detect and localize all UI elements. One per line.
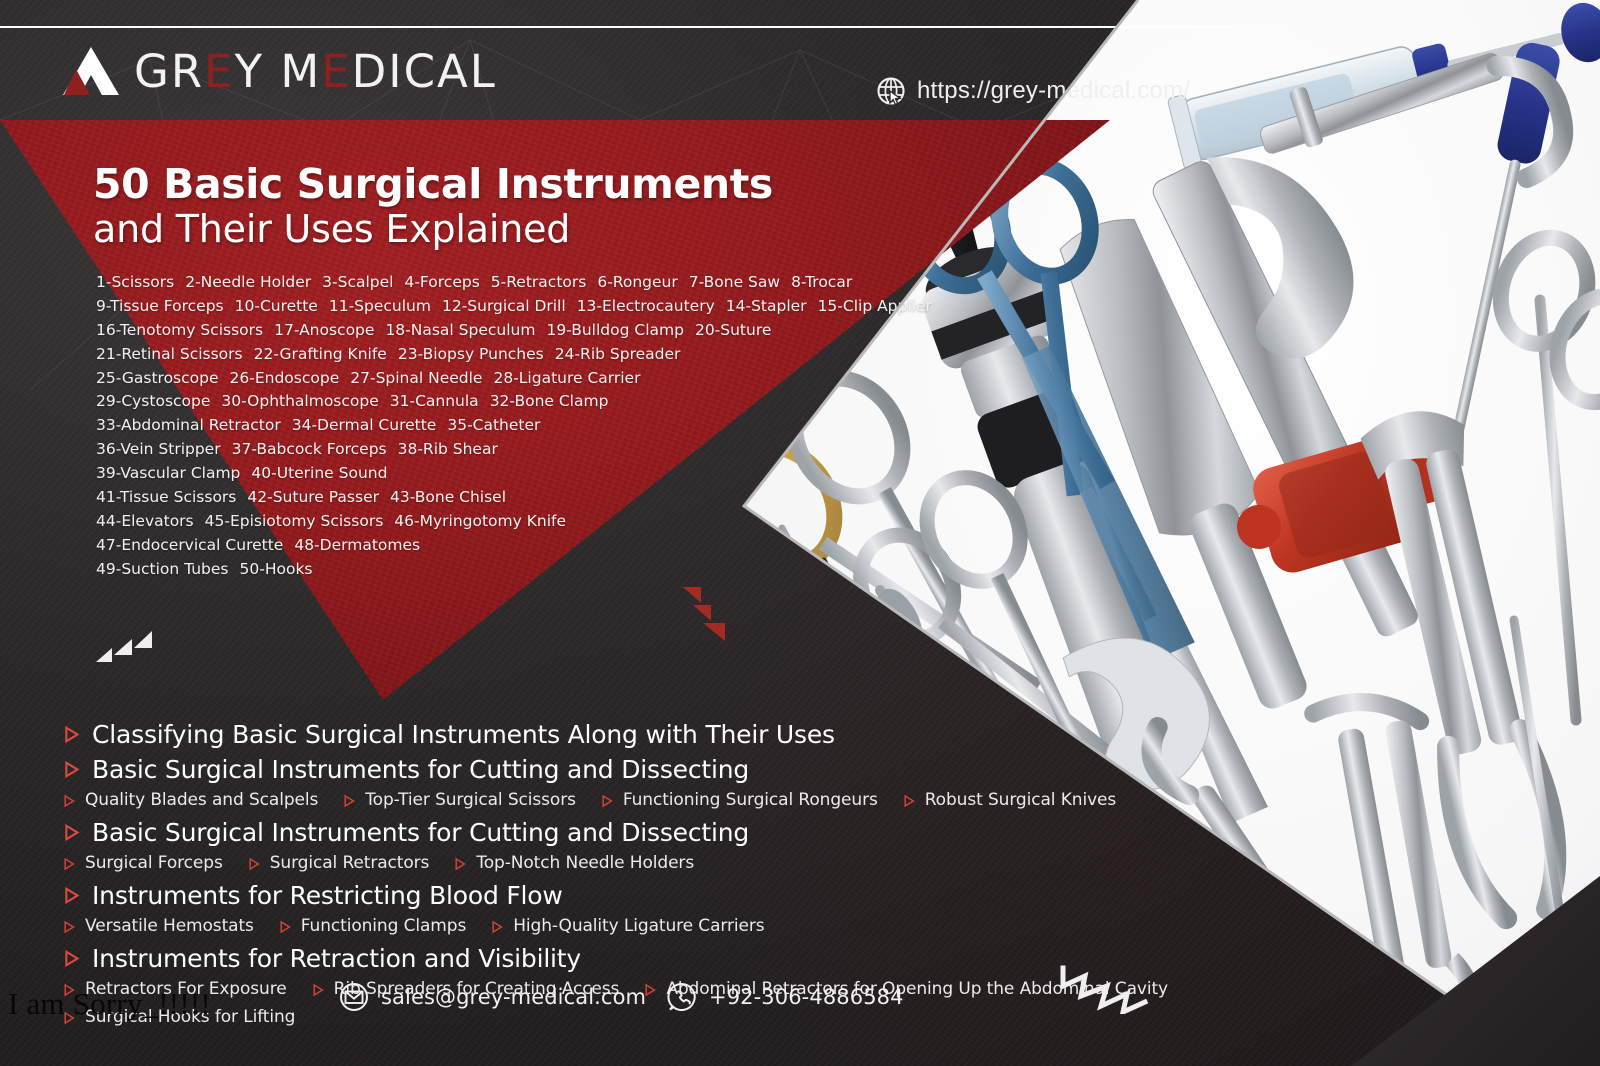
footer-email-text: sales@grey-medical.com bbox=[381, 985, 646, 1009]
outline-subitem[interactable]: Robust Surgical Knives bbox=[902, 792, 1116, 809]
triangle-bullet-icon bbox=[62, 823, 81, 842]
instrument-item: 5-Retractors bbox=[491, 273, 587, 291]
logo-text-seg3: DICAL bbox=[352, 49, 497, 94]
instrument-item: 24-Rib Spreader bbox=[555, 345, 681, 363]
page-title: 50 Basic Surgical Instruments and Their … bbox=[93, 162, 853, 252]
instrument-item: 49-Suction Tubes bbox=[96, 560, 229, 578]
triangle-bullet-icon bbox=[453, 857, 467, 871]
logo-text-seg2: Y M bbox=[235, 49, 322, 94]
outline-row: Instruments for Retraction and Visibilit… bbox=[62, 946, 1122, 971]
brand-logo[interactable]: GREY MEDICAL bbox=[60, 40, 497, 102]
instrument-row: 47-Endocervical Curette48-Dermatomes bbox=[96, 538, 876, 554]
instrument-item: 17-Anoscope bbox=[274, 321, 374, 339]
triangle-bullet-icon bbox=[600, 794, 614, 808]
instrument-item: 4-Forceps bbox=[404, 273, 479, 291]
instrument-number-list: 1-Scissors2-Needle Holder3-Scalpel4-Forc… bbox=[96, 275, 876, 586]
instrument-item: 6-Rongeur bbox=[597, 273, 677, 291]
instrument-item: 46-Myringotomy Knife bbox=[394, 512, 566, 530]
instrument-item: 27-Spinal Needle bbox=[350, 369, 482, 387]
outline-label: Robust Surgical Knives bbox=[925, 792, 1116, 809]
instrument-item: 9-Tissue Forceps bbox=[96, 297, 224, 315]
instrument-row: 36-Vein Stripper37-Babcock Forceps38-Rib… bbox=[96, 442, 876, 458]
triangle-bullet-icon bbox=[62, 857, 76, 871]
footer-phone[interactable]: +92-306-4886584 bbox=[667, 982, 904, 1012]
instrument-item: 44-Elevators bbox=[96, 512, 194, 530]
outline-row: Surgical ForcepsSurgical RetractorsTop-N… bbox=[62, 855, 1122, 872]
outline-label: Basic Surgical Instruments for Cutting a… bbox=[92, 757, 749, 782]
triangle-bullet-icon bbox=[247, 857, 261, 871]
website-url-text: https://grey-medical.com/ bbox=[917, 77, 1190, 105]
outline-label: Versatile Hemostats bbox=[85, 918, 254, 935]
title-line-1: 50 Basic Surgical Instruments bbox=[93, 162, 853, 206]
outline-subitem[interactable]: High-Quality Ligature Carriers bbox=[490, 918, 764, 935]
instrument-row: 29-Cystoscope30-Ophthalmoscope31-Cannula… bbox=[96, 394, 876, 410]
instrument-row: 21-Retinal Scissors22-Grafting Knife23-B… bbox=[96, 347, 876, 363]
instrument-item: 29-Cystoscope bbox=[96, 392, 210, 410]
outline-label: Functioning Clamps bbox=[301, 918, 466, 935]
instrument-row: 41-Tissue Scissors42-Suture Passer43-Bon… bbox=[96, 490, 876, 506]
logo-text-red2: E bbox=[321, 49, 351, 94]
instrument-item: 30-Ophthalmoscope bbox=[221, 392, 378, 410]
outline-label: Functioning Surgical Rongeurs bbox=[623, 792, 878, 809]
instrument-item: 48-Dermatomes bbox=[294, 536, 420, 554]
instrument-item: 19-Bulldog Clamp bbox=[546, 321, 684, 339]
instrument-row: 49-Suction Tubes50-Hooks bbox=[96, 562, 876, 578]
overlay-sorry-text: I am Sorry_!!!!! bbox=[8, 988, 211, 1019]
instrument-item: 18-Nasal Speculum bbox=[385, 321, 535, 339]
instrument-item: 12-Surgical Drill bbox=[442, 297, 566, 315]
triangle-bullet-icon bbox=[62, 886, 81, 905]
globe-cursor-icon bbox=[876, 76, 906, 106]
instrument-item: 40-Uterine Sound bbox=[251, 464, 387, 482]
outline-heading[interactable]: Classifying Basic Surgical Instruments A… bbox=[62, 722, 835, 747]
outline-label: High-Quality Ligature Carriers bbox=[513, 918, 764, 935]
outline-heading[interactable]: Instruments for Restricting Blood Flow bbox=[62, 883, 563, 908]
instrument-row: 1-Scissors2-Needle Holder3-Scalpel4-Forc… bbox=[96, 275, 876, 291]
ascending-white-triangles-icon bbox=[96, 628, 152, 664]
instrument-row: 33-Abdominal Retractor34-Dermal Curette3… bbox=[96, 418, 876, 434]
outline-subitem[interactable]: Surgical Forceps bbox=[62, 855, 223, 872]
instrument-item: 32-Bone Clamp bbox=[490, 392, 609, 410]
instrument-item: 2-Needle Holder bbox=[185, 273, 311, 291]
outline-subitem[interactable]: Top-Tier Surgical Scissors bbox=[342, 792, 576, 809]
outline-heading[interactable]: Basic Surgical Instruments for Cutting a… bbox=[62, 820, 749, 845]
footer-phone-text: +92-306-4886584 bbox=[709, 985, 904, 1009]
logo-text-red1: E bbox=[204, 49, 234, 94]
outline-row: Classifying Basic Surgical Instruments A… bbox=[62, 722, 1122, 747]
instrument-row: 16-Tenotomy Scissors17-Anoscope18-Nasal … bbox=[96, 323, 876, 339]
website-url[interactable]: https://grey-medical.com/ bbox=[876, 76, 1190, 106]
instrument-row: 44-Elevators45-Episiotomy Scissors46-Myr… bbox=[96, 514, 876, 530]
triangle-bullet-icon bbox=[342, 794, 356, 808]
outline-label: Surgical Forceps bbox=[85, 855, 223, 872]
descending-red-triangles-icon bbox=[683, 583, 731, 645]
title-line-2: and Their Uses Explained bbox=[93, 208, 853, 252]
outline-subitem[interactable]: Functioning Surgical Rongeurs bbox=[600, 792, 878, 809]
triangle-bullet-icon bbox=[278, 920, 292, 934]
instrument-item: 16-Tenotomy Scissors bbox=[96, 321, 263, 339]
instrument-item: 38-Rib Shear bbox=[398, 440, 498, 458]
outline-heading[interactable]: Instruments for Retraction and Visibilit… bbox=[62, 946, 581, 971]
outline-row: Quality Blades and ScalpelsTop-Tier Surg… bbox=[62, 792, 1122, 809]
triangle-bullet-icon bbox=[62, 920, 76, 934]
instrument-item: 15-Clip Applier bbox=[818, 297, 932, 315]
instrument-item: 34-Dermal Curette bbox=[292, 416, 437, 434]
instrument-item: 50-Hooks bbox=[240, 560, 313, 578]
outline-label: Top-Tier Surgical Scissors bbox=[365, 792, 576, 809]
instrument-item: 26-Endoscope bbox=[230, 369, 340, 387]
instrument-item: 25-Gastroscope bbox=[96, 369, 219, 387]
outline-label: Basic Surgical Instruments for Cutting a… bbox=[92, 820, 749, 845]
instrument-item: 42-Suture Passer bbox=[247, 488, 379, 506]
instrument-row: 39-Vascular Clamp40-Uterine Sound bbox=[96, 466, 876, 482]
triangle-bullet-icon bbox=[62, 794, 76, 808]
instrument-item: 31-Cannula bbox=[390, 392, 479, 410]
outline-label: Quality Blades and Scalpels bbox=[85, 792, 318, 809]
outline-subitem[interactable]: Surgical Retractors bbox=[247, 855, 430, 872]
triangle-bullet-icon bbox=[490, 920, 504, 934]
outline-subitem[interactable]: Quality Blades and Scalpels bbox=[62, 792, 318, 809]
instrument-row: 25-Gastroscope26-Endoscope27-Spinal Need… bbox=[96, 371, 876, 387]
instrument-item: 35-Catheter bbox=[447, 416, 540, 434]
envelope-circle-icon bbox=[339, 982, 369, 1012]
whatsapp-phone-circle-icon bbox=[667, 982, 697, 1012]
outline-label: Top-Notch Needle Holders bbox=[476, 855, 694, 872]
outline-label: Classifying Basic Surgical Instruments A… bbox=[92, 722, 835, 747]
instrument-item: 22-Grafting Knife bbox=[254, 345, 387, 363]
outline-row: Basic Surgical Instruments for Cutting a… bbox=[62, 757, 1122, 782]
outline-subitem[interactable]: Functioning Clamps bbox=[278, 918, 466, 935]
triangle-chevron-logo-icon bbox=[60, 45, 122, 97]
instrument-item: 37-Babcock Forceps bbox=[232, 440, 387, 458]
header-top-rule bbox=[0, 26, 1285, 28]
instrument-item: 33-Abdominal Retractor bbox=[96, 416, 281, 434]
triangle-bullet-icon bbox=[62, 725, 81, 744]
poster-root: GREY MEDICAL https://grey-medical.com/ 5… bbox=[0, 0, 1600, 1066]
logo-text-seg1: GR bbox=[134, 49, 204, 94]
triangle-bullet-icon bbox=[62, 949, 81, 968]
instrument-item: 13-Electrocautery bbox=[577, 297, 715, 315]
outline-heading[interactable]: Basic Surgical Instruments for Cutting a… bbox=[62, 757, 749, 782]
triangle-bullet-icon bbox=[902, 794, 916, 808]
outline-subitem[interactable]: Top-Notch Needle Holders bbox=[453, 855, 694, 872]
triangle-bullet-icon bbox=[62, 760, 81, 779]
header: GREY MEDICAL https://grey-medical.com/ bbox=[0, 34, 1285, 120]
instrument-item: 3-Scalpel bbox=[322, 273, 393, 291]
instrument-item: 1-Scissors bbox=[96, 273, 174, 291]
instrument-item: 36-Vein Stripper bbox=[96, 440, 221, 458]
instrument-item: 45-Episiotomy Scissors bbox=[205, 512, 384, 530]
instrument-item: 11-Speculum bbox=[329, 297, 431, 315]
outline-label: Surgical Retractors bbox=[270, 855, 430, 872]
outline-label: Instruments for Retraction and Visibilit… bbox=[92, 946, 581, 971]
instrument-item: 10-Curette bbox=[235, 297, 318, 315]
outline-row: Versatile HemostatsFunctioning ClampsHig… bbox=[62, 918, 1122, 935]
outline-row: Basic Surgical Instruments for Cutting a… bbox=[62, 820, 1122, 845]
instrument-item: 43-Bone Chisel bbox=[390, 488, 506, 506]
outline-row: Instruments for Restricting Blood Flow bbox=[62, 883, 1122, 908]
footer-email[interactable]: sales@grey-medical.com bbox=[339, 982, 646, 1012]
instrument-item: 8-Trocar bbox=[791, 273, 852, 291]
brand-logo-text: GREY MEDICAL bbox=[134, 49, 497, 94]
instrument-item: 23-Biopsy Punches bbox=[398, 345, 544, 363]
instrument-row: 9-Tissue Forceps10-Curette11-Speculum12-… bbox=[96, 299, 876, 315]
instrument-item: 47-Endocervical Curette bbox=[96, 536, 283, 554]
outline-subitem[interactable]: Versatile Hemostats bbox=[62, 918, 254, 935]
instrument-item: 28-Ligature Carrier bbox=[493, 369, 640, 387]
outline-label: Instruments for Restricting Blood Flow bbox=[92, 883, 563, 908]
instrument-item: 20-Suture bbox=[695, 321, 771, 339]
instrument-item: 7-Bone Saw bbox=[689, 273, 780, 291]
instrument-item: 14-Stapler bbox=[726, 297, 807, 315]
instrument-item: 21-Retinal Scissors bbox=[96, 345, 243, 363]
instrument-item: 39-Vascular Clamp bbox=[96, 464, 240, 482]
instrument-item: 41-Tissue Scissors bbox=[96, 488, 236, 506]
